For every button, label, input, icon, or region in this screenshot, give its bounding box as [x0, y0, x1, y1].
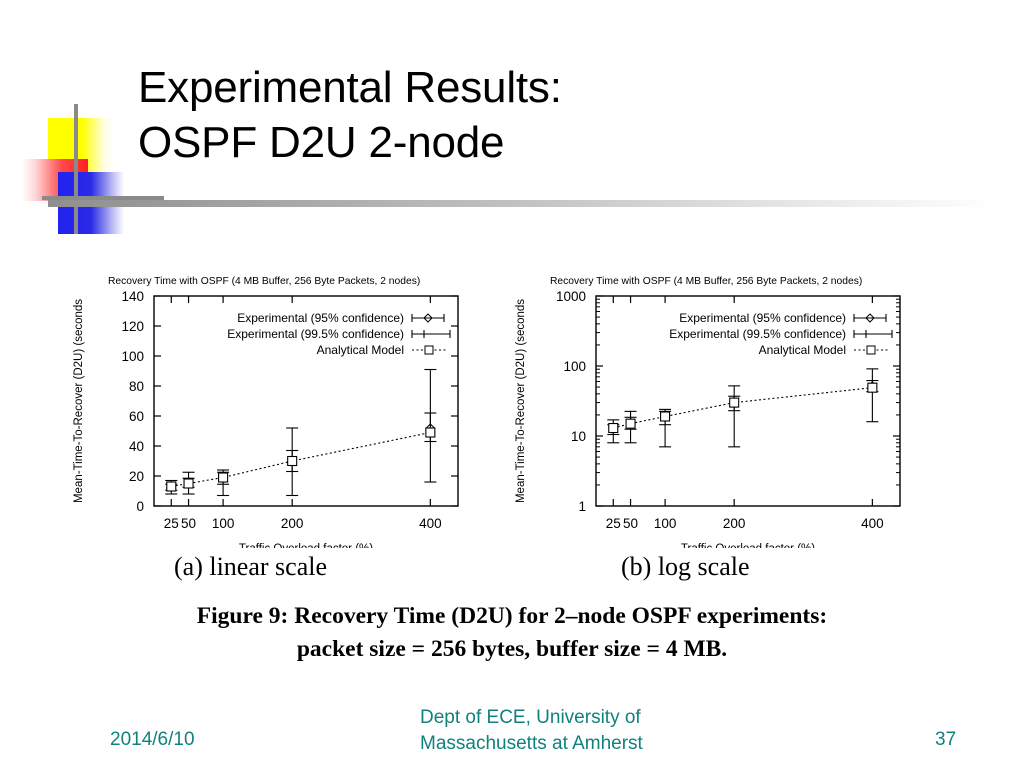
- chart-linear-scale: Recovery Time with OSPF (4 MB Buffer, 25…: [60, 248, 510, 548]
- page-title-line-2: OSPF D2U 2-node: [138, 115, 958, 170]
- chart-title: Recovery Time with OSPF (4 MB Buffer, 25…: [550, 276, 862, 287]
- chart-title: Recovery Time with OSPF (4 MB Buffer, 25…: [108, 276, 420, 287]
- footer-date: 2014/6/10: [110, 729, 195, 751]
- subcaption-b: (b) log scale: [621, 552, 750, 582]
- series-experimental-95: [607, 381, 878, 435]
- chart-legend-label: Analytical Model: [759, 343, 846, 357]
- chart-x-ticklabel: 50: [181, 516, 196, 531]
- series-experimental-95: [165, 413, 436, 491]
- chart-y-ticklabel: 120: [121, 319, 144, 334]
- subcaption-a: (a) linear scale: [174, 552, 327, 582]
- chart-y-ticklabel: 1000: [556, 289, 586, 304]
- series-analytical-model: [167, 428, 435, 491]
- chart-legend-key: [854, 314, 886, 322]
- chart-legend-key: [854, 330, 892, 338]
- chart-y-ticklabel: 20: [129, 469, 144, 484]
- series-experimental-995: [165, 370, 436, 496]
- figure-caption-line-2: packet size = 256 bytes, buffer size = 4…: [56, 633, 968, 666]
- title-divider: [48, 200, 998, 207]
- chart-y-ticklabel: 0: [136, 499, 144, 514]
- chart-y-ticklabel: 140: [121, 289, 144, 304]
- logo-vertical-bar: [74, 104, 78, 234]
- chart-legend-key: [412, 330, 450, 338]
- chart-y-ticklabel: 10: [571, 429, 586, 444]
- charts-row: Recovery Time with OSPF (4 MB Buffer, 25…: [56, 248, 968, 548]
- page-title: Experimental Results: OSPF D2U 2-node: [138, 60, 958, 171]
- chart-y-ticklabel: 40: [129, 439, 144, 454]
- chart-xlabel: Traffic Overload factor (%): [681, 543, 815, 548]
- chart-legend-key: [412, 346, 448, 354]
- chart-x-ticklabel: 200: [723, 516, 746, 531]
- chart-log-scale: Recovery Time with OSPF (4 MB Buffer, 25…: [502, 248, 952, 548]
- chart-legend-label: Analytical Model: [317, 343, 404, 357]
- chart-y-ticklabel: 1: [578, 499, 586, 514]
- subcaptions: (a) linear scale (b) log scale: [56, 552, 968, 592]
- chart-legend-label: Experimental (99.5% confidence): [669, 327, 846, 341]
- figure-block: Recovery Time with OSPF (4 MB Buffer, 25…: [56, 248, 968, 688]
- chart-legend-label: Experimental (95% confidence): [237, 311, 404, 325]
- chart-legend-key: [412, 314, 444, 322]
- chart-log-svg: Recovery Time with OSPF (4 MB Buffer, 25…: [502, 248, 952, 548]
- chart-x-ticklabel: 400: [419, 516, 442, 531]
- chart-x-ticklabel: 25: [606, 516, 621, 531]
- decorative-logo: [22, 104, 152, 234]
- page-title-line-1: Experimental Results:: [138, 60, 958, 115]
- chart-y-ticklabel: 80: [129, 379, 144, 394]
- chart-ylabel: Mean-Time-To-Recover (D2U) (seconds: [515, 299, 527, 503]
- chart-legend-label: Experimental (95% confidence): [679, 311, 846, 325]
- footer-affiliation-line-1: Dept of ECE, University of: [420, 705, 720, 731]
- slide: Experimental Results: OSPF D2U 2-node Re…: [0, 0, 1024, 768]
- chart-legend-key: [854, 346, 890, 354]
- chart-x-ticklabel: 200: [281, 516, 304, 531]
- chart-y-ticklabel: 100: [121, 349, 144, 364]
- chart-x-ticklabel: 400: [861, 516, 884, 531]
- chart-x-ticklabel: 100: [212, 516, 235, 531]
- figure-caption-line-1: Figure 9: Recovery Time (D2U) for 2–node…: [56, 600, 968, 633]
- chart-xlabel: Traffic Overload factor (%): [239, 543, 373, 548]
- chart-legend-label: Experimental (99.5% confidence): [227, 327, 404, 341]
- chart-linear-svg: Recovery Time with OSPF (4 MB Buffer, 25…: [60, 248, 510, 548]
- series-experimental-995: [607, 369, 878, 447]
- series-analytical-model: [609, 383, 877, 432]
- chart-x-ticklabel: 100: [654, 516, 677, 531]
- chart-x-ticklabel: 50: [623, 516, 638, 531]
- chart-ylabel: Mean-Time-To-Recover (D2U) (seconds: [73, 299, 85, 503]
- footer-affiliation: Dept of ECE, University of Massachusetts…: [420, 705, 720, 756]
- figure-caption: Figure 9: Recovery Time (D2U) for 2–node…: [56, 600, 968, 667]
- footer-affiliation-line-2: Massachusetts at Amherst: [420, 731, 720, 757]
- chart-x-ticklabel: 25: [164, 516, 179, 531]
- chart-y-ticklabel: 60: [129, 409, 144, 424]
- footer-page-number: 37: [935, 729, 956, 751]
- chart-y-ticklabel: 100: [563, 359, 586, 374]
